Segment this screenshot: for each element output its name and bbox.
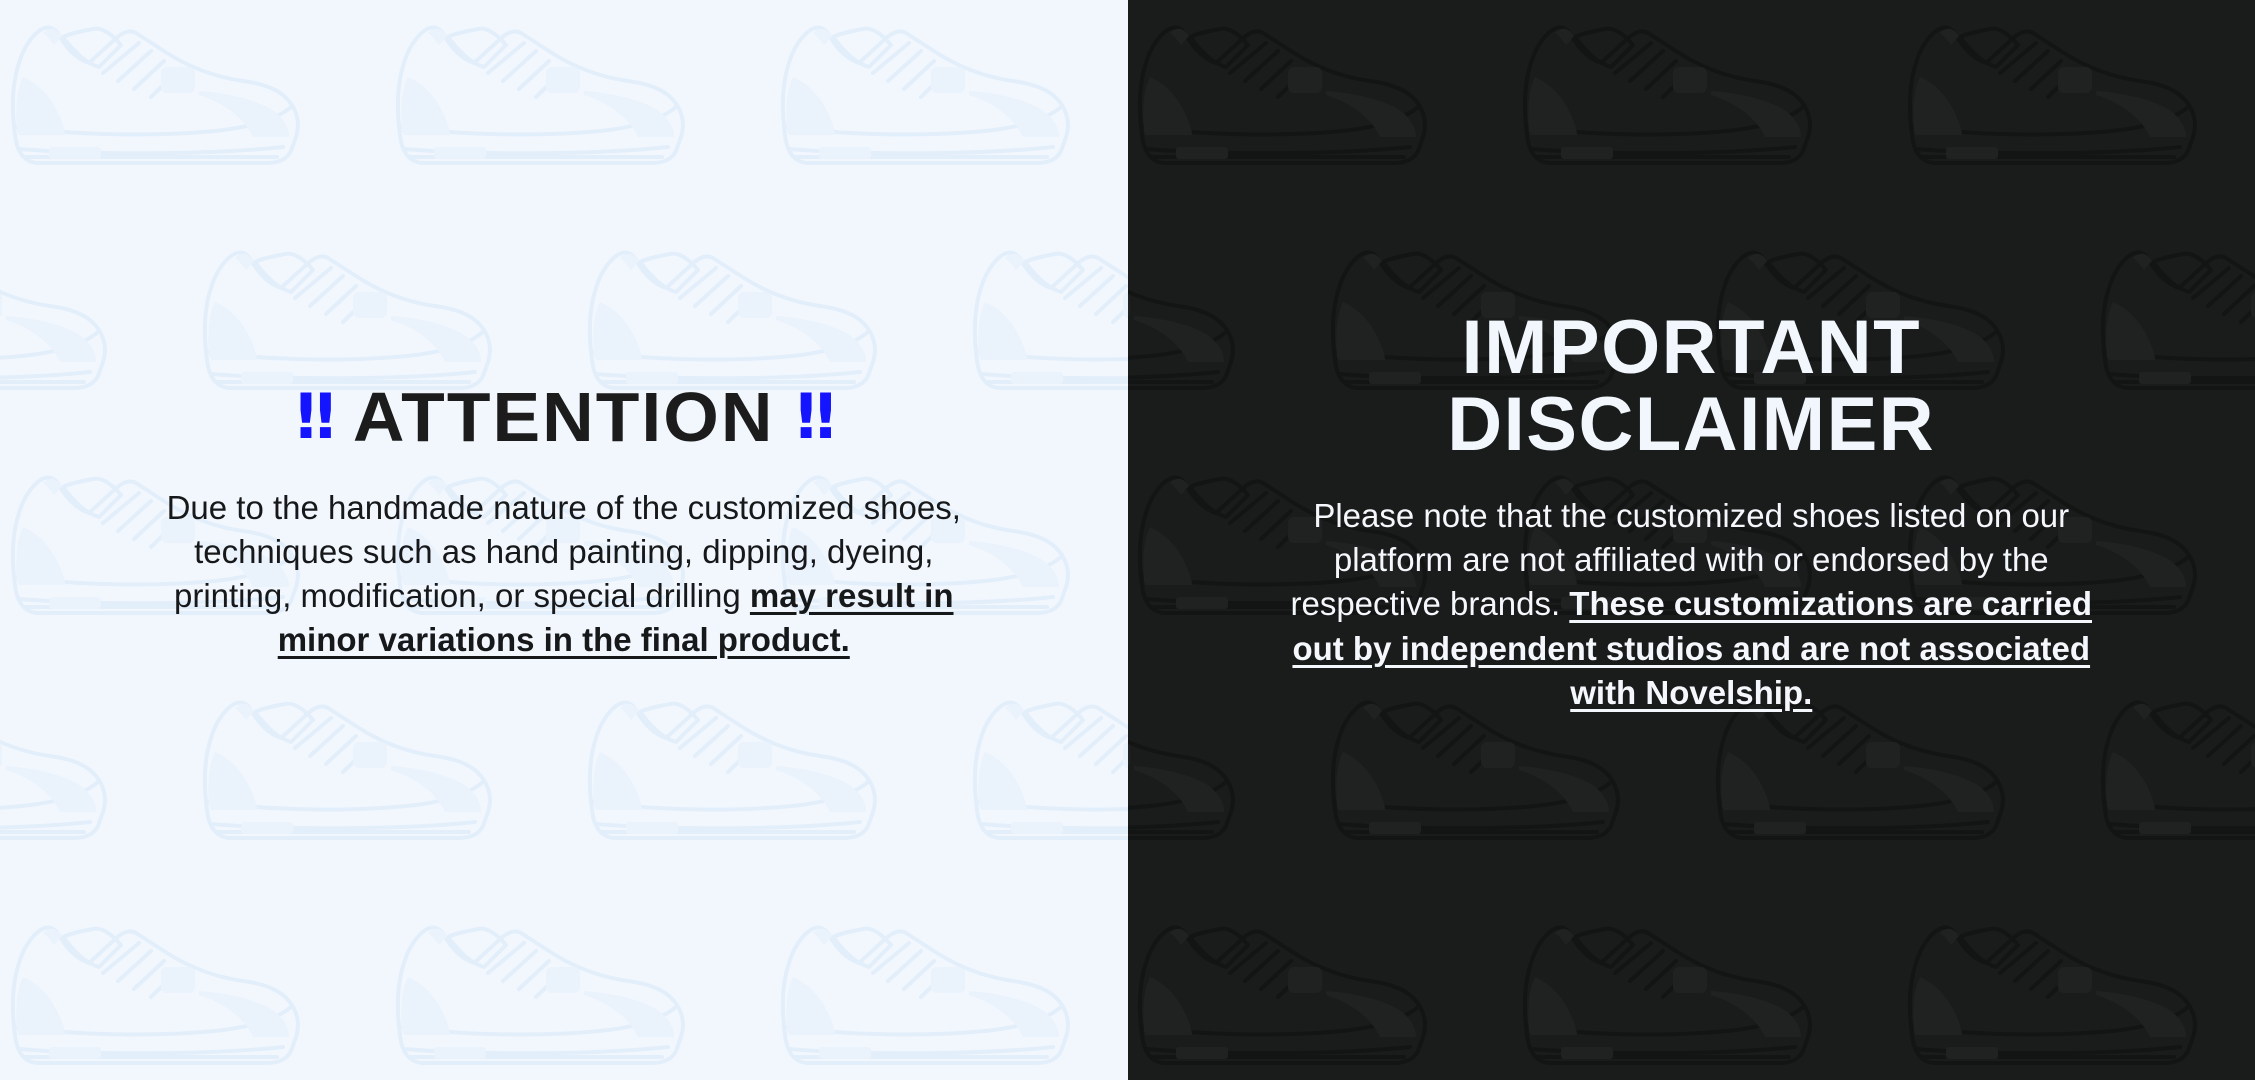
disclaimer-heading-line2: DISCLAIMER <box>1188 386 2196 464</box>
attention-body: Due to the handmade nature of the custom… <box>149 486 979 663</box>
sneaker-icon <box>145 660 530 875</box>
attention-content: ‼ ATTENTION ‼ Due to the handmade nature… <box>0 382 1128 663</box>
sneaker-icon <box>1108 0 1128 200</box>
disclaimer-heading: IMPORTANT DISCLAIMER <box>1188 309 2196 464</box>
sneaker-icon <box>723 0 1108 200</box>
attention-heading-label: ATTENTION <box>353 382 775 452</box>
sneaker-icon <box>530 660 915 875</box>
sneaker-icon <box>0 660 145 875</box>
sneaker-icon <box>2235 0 2255 200</box>
sneaker-icon <box>915 660 1128 875</box>
sneaker-icon <box>1128 0 1466 200</box>
sneaker-icon <box>338 885 723 1080</box>
sneaker-icon <box>0 885 338 1080</box>
sneaker-icon <box>1128 885 1466 1080</box>
sneaker-icon <box>723 885 1108 1080</box>
attention-heading: ‼ ATTENTION ‼ <box>60 382 1068 452</box>
sneaker-icon <box>2235 885 2255 1080</box>
sneaker-icon <box>0 0 338 200</box>
sneaker-icon <box>338 0 723 200</box>
disclaimer-body: Please note that the customized shoes li… <box>1276 494 2106 715</box>
double-exclamation-icon-left: ‼ <box>296 386 331 448</box>
disclaimer-content: IMPORTANT DISCLAIMER Please note that th… <box>1128 309 2255 715</box>
sneaker-icon <box>1850 885 2235 1080</box>
double-exclamation-icon-right: ‼ <box>796 386 831 448</box>
attention-panel: ‼ ATTENTION ‼ Due to the handmade nature… <box>0 0 1128 1080</box>
disclaimer-heading-line1: IMPORTANT <box>1188 309 2196 387</box>
disclaimer-panel: IMPORTANT DISCLAIMER Please note that th… <box>1128 0 2255 1080</box>
sneaker-icon <box>1465 0 1850 200</box>
sneaker-icon <box>1108 885 1128 1080</box>
sneaker-icon <box>1465 885 1850 1080</box>
sneaker-icon <box>1850 0 2235 200</box>
